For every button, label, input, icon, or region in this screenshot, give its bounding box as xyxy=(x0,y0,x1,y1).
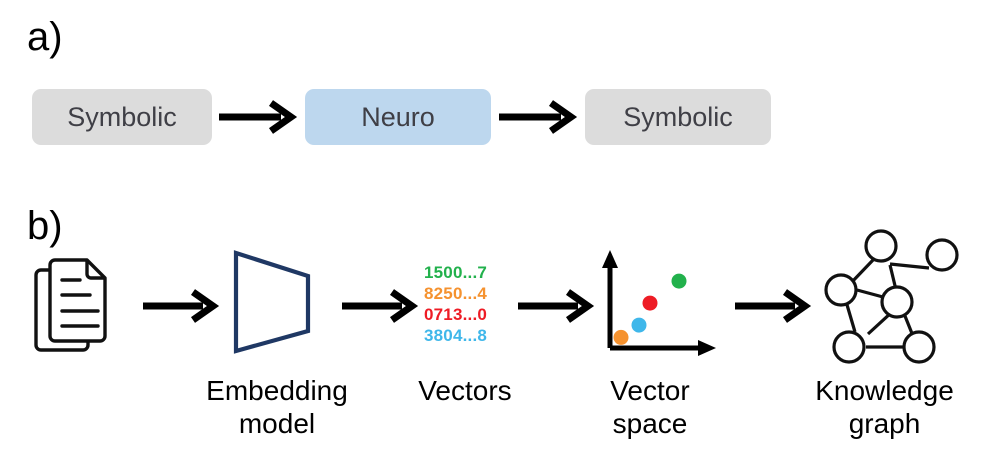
stage-label-line-2: space xyxy=(580,407,720,440)
arrow-symbolic-to-neuro xyxy=(219,101,299,133)
arrow-right-icon xyxy=(219,101,299,133)
arrow-right-icon xyxy=(143,290,221,322)
vector-space-points xyxy=(614,274,687,345)
x-axis-arrowhead xyxy=(698,340,716,356)
flow-box-symbolic-input-label: Symbolic xyxy=(67,102,177,133)
stage-label-embedding-model: Embedding model xyxy=(172,374,382,440)
vector-line-1: 1500...7 xyxy=(424,262,487,283)
panel-letter-a: a) xyxy=(27,17,63,57)
flow-box-neuro: Neuro xyxy=(305,89,491,145)
vector-line-2: 8250...4 xyxy=(424,283,487,304)
vectors-list: 1500...7 8250...4 0713...0 3804...8 xyxy=(424,262,487,346)
flow-box-symbolic-output: Symbolic xyxy=(585,89,771,145)
documents-icon xyxy=(28,256,120,365)
flow-box-symbolic-input: Symbolic xyxy=(32,89,212,145)
stage-label-line-1: Vectors xyxy=(390,374,540,407)
vector-space-point xyxy=(614,330,629,345)
trapezoid-icon xyxy=(228,247,320,362)
knowledge-graph-glyph xyxy=(818,228,988,368)
stage-label-vector-space: Vector space xyxy=(580,374,720,440)
stage-label-line-2: graph xyxy=(772,407,997,440)
arrow-model-to-vectors xyxy=(342,290,420,322)
vector-line-3: 0713...0 xyxy=(424,304,487,325)
arrow-right-icon xyxy=(499,101,579,133)
vector-space-axes xyxy=(596,248,722,360)
arrow-right-icon xyxy=(342,290,420,322)
embedding-model-glyph xyxy=(228,247,320,357)
graph-nodes xyxy=(826,231,957,362)
documents-glyph xyxy=(28,256,120,360)
arrow-docs-to-model xyxy=(143,290,221,322)
stage-label-line-1: Knowledge xyxy=(772,374,997,407)
stage-label-line-1: Vector xyxy=(580,374,720,407)
figure-canvas: a) Symbolic Neuro Symbolic b) xyxy=(0,0,997,472)
knowledge-graph-icon xyxy=(818,228,988,373)
flow-box-neuro-label: Neuro xyxy=(361,102,435,133)
arrow-vectors-to-space xyxy=(518,290,596,322)
vector-space-point xyxy=(632,318,647,333)
stage-label-knowledge-graph: Knowledge graph xyxy=(772,374,997,440)
arrow-right-icon xyxy=(735,290,813,322)
stage-label-vectors: Vectors xyxy=(390,374,540,407)
vector-space-point xyxy=(672,274,687,289)
arrow-neuro-to-symbolic xyxy=(499,101,579,133)
stage-label-line-1: Embedding xyxy=(172,374,382,407)
panel-letter-b: b) xyxy=(27,206,63,246)
vector-space-plot xyxy=(596,248,722,365)
flow-box-symbolic-output-label: Symbolic xyxy=(623,102,733,133)
vector-space-point xyxy=(643,296,658,311)
arrow-space-to-graph xyxy=(735,290,813,322)
vector-line-4: 3804...8 xyxy=(424,325,487,346)
y-axis-arrowhead xyxy=(602,250,618,268)
stage-label-line-2: model xyxy=(172,407,382,440)
arrow-right-icon xyxy=(518,290,596,322)
